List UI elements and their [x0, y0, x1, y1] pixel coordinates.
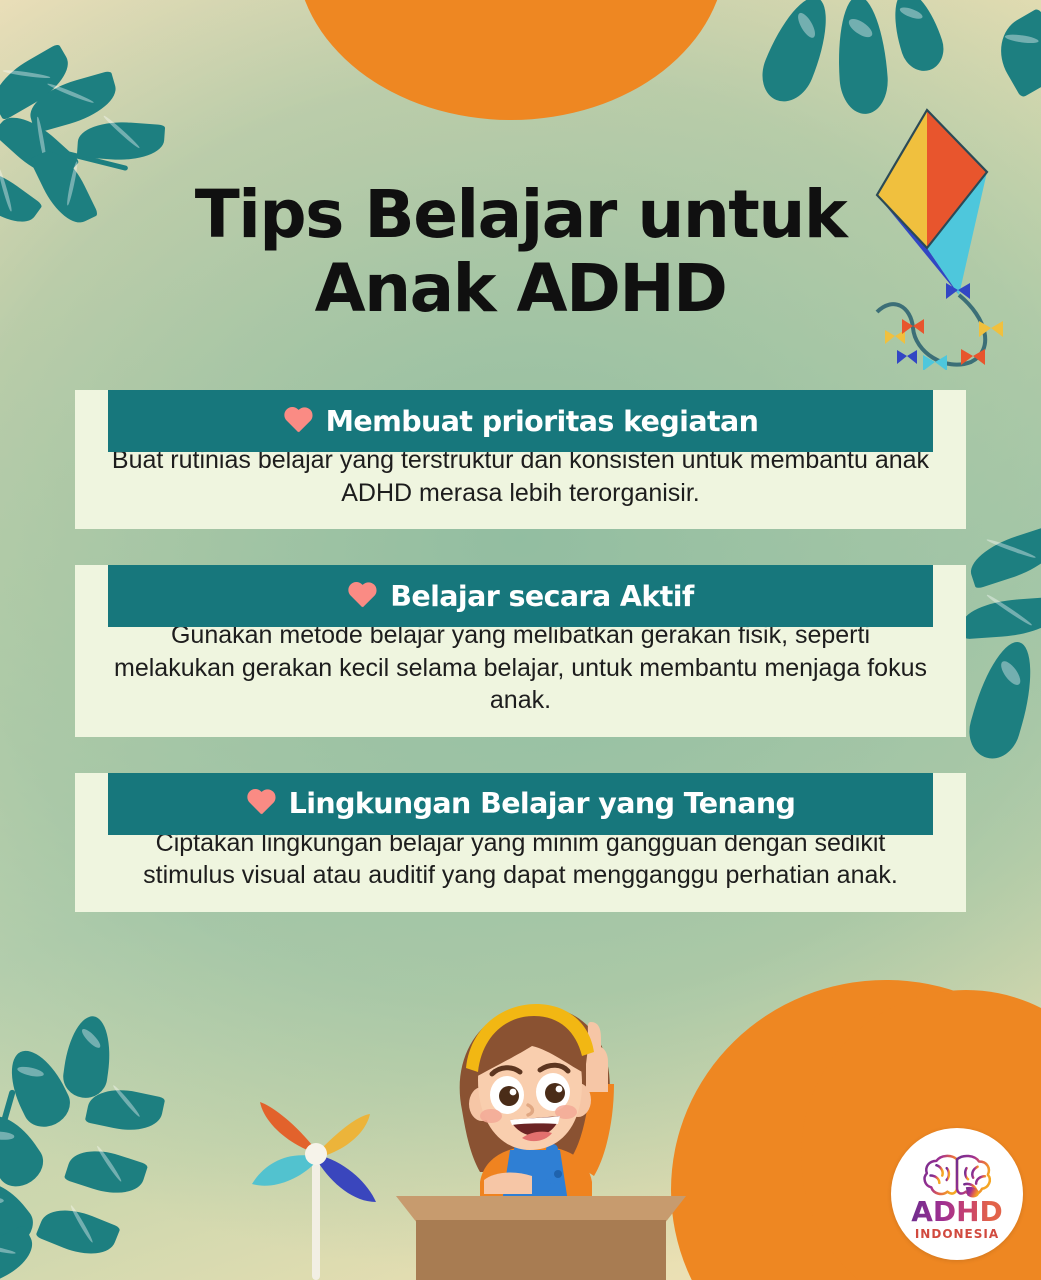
- adhd-indonesia-logo: ADHD INDONESIA: [891, 1128, 1023, 1260]
- page-title-line-1: Tips Belajar untuk: [195, 176, 846, 253]
- tip-card-text: Ciptakan lingkungan belajar yang minim g…: [109, 827, 932, 892]
- girl-raising-hand-illustration: [410, 992, 660, 1222]
- poster-canvas: Tips Belajar untuk Anak ADHD Membuat pri…: [0, 0, 1041, 1280]
- desk-illustration: [396, 1196, 686, 1280]
- tip-card-text: Buat rutinias belajar yang terstruktur d…: [109, 444, 932, 509]
- tip-card-title: Belajar secara Aktif: [390, 580, 693, 613]
- page-title: Tips Belajar untuk Anak ADHD: [0, 178, 1041, 326]
- heart-icon: [347, 583, 377, 610]
- heart-icon: [283, 408, 313, 435]
- tip-card-title: Membuat prioritas kegiatan: [326, 405, 759, 438]
- tip-card-header: Belajar secara Aktif: [108, 565, 933, 627]
- tip-card-header: Lingkungan Belajar yang Tenang: [108, 773, 933, 835]
- tip-card-title: Lingkungan Belajar yang Tenang: [289, 787, 796, 820]
- tips-list: Membuat prioritas kegiatan Buat rutinias…: [0, 390, 1041, 948]
- heart-icon: [246, 790, 276, 817]
- desk-top: [396, 1196, 686, 1222]
- tip-card: Belajar secara Aktif Gunakan metode bela…: [0, 565, 1041, 737]
- tip-card: Membuat prioritas kegiatan Buat rutinias…: [0, 390, 1041, 529]
- tip-card-text: Gunakan metode belajar yang melibatkan g…: [109, 619, 932, 717]
- desk-front: [416, 1220, 666, 1280]
- bottom-scene: [0, 980, 1041, 1280]
- tip-card-header: Membuat prioritas kegiatan: [108, 390, 933, 452]
- brain-icon: [920, 1152, 994, 1202]
- page-title-line-2: Anak ADHD: [120, 252, 921, 326]
- logo-subtitle: INDONESIA: [915, 1227, 999, 1241]
- pinwheel-icon: [238, 1080, 398, 1280]
- logo-name: ADHD: [911, 1198, 1003, 1226]
- orange-circle-top: [296, 0, 726, 120]
- tip-card: Lingkungan Belajar yang Tenang Ciptakan …: [0, 773, 1041, 912]
